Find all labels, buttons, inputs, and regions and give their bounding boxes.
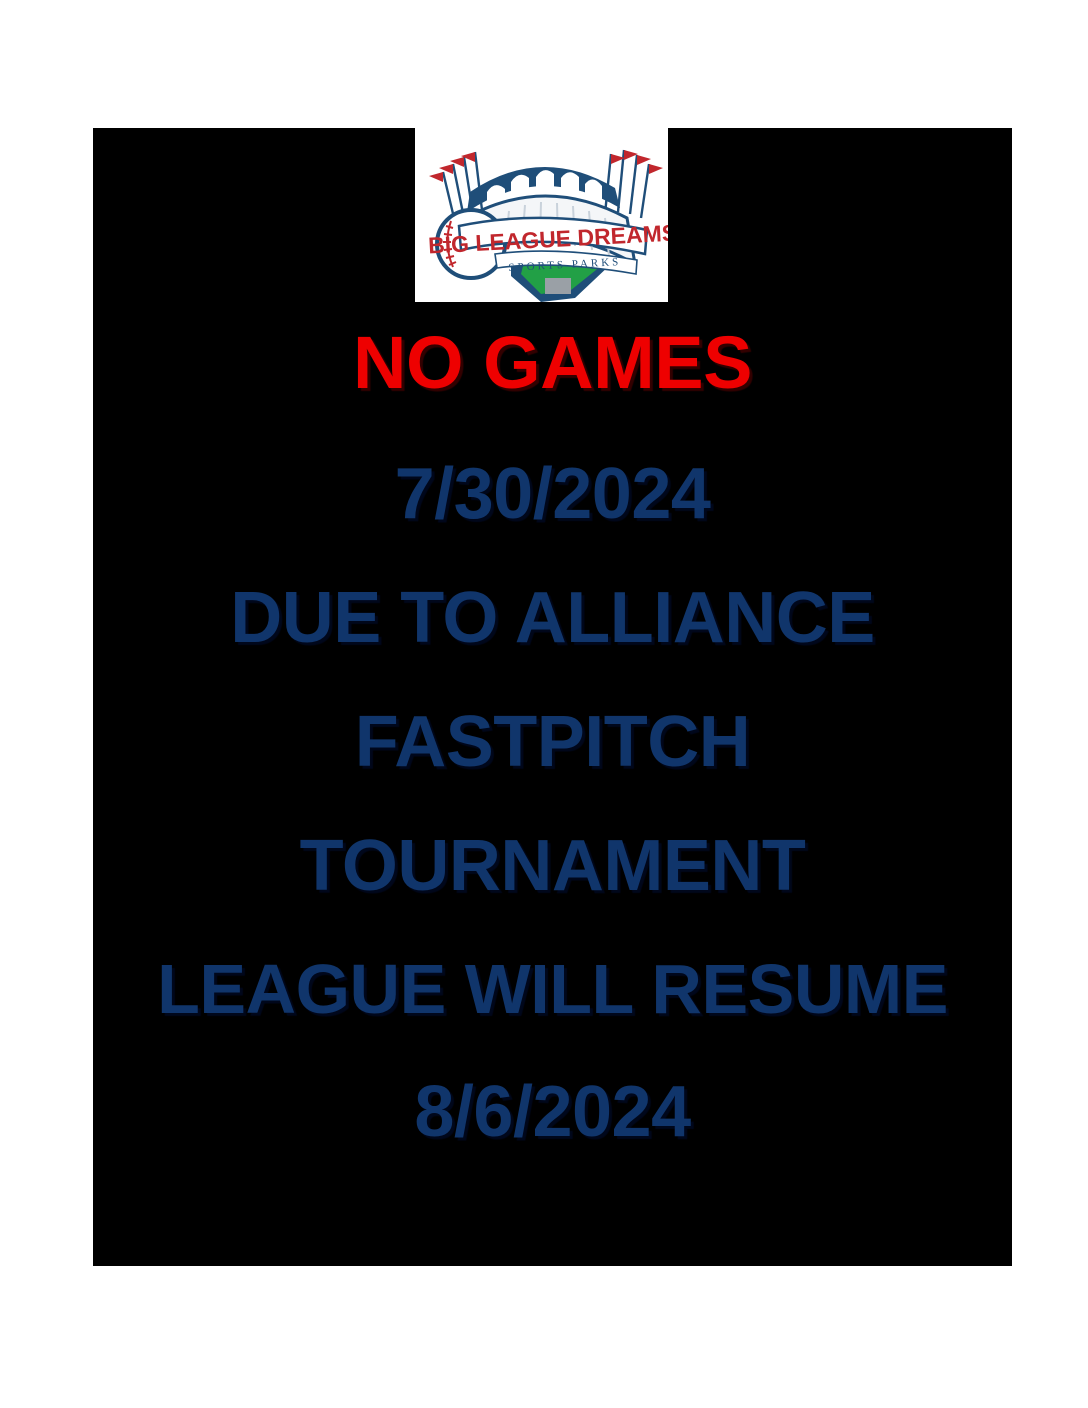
notice-headline: NO GAMES	[93, 326, 1012, 400]
flyer-page: BIG LEAGUE DREAMS SPORTS PARKS NO GAMES …	[0, 0, 1088, 1408]
notice-line-reason-1: DUE TO ALLIANCE	[93, 582, 1012, 654]
notice-line-reason-2: FASTPITCH	[93, 706, 1012, 778]
notice-line-resume-date: 8/6/2024	[93, 1076, 1012, 1148]
big-league-dreams-logo-icon: BIG LEAGUE DREAMS SPORTS PARKS	[415, 128, 668, 302]
notice-line-resume: LEAGUE WILL RESUME	[93, 954, 1012, 1024]
black-notice-panel: BIG LEAGUE DREAMS SPORTS PARKS NO GAMES …	[93, 128, 1012, 1266]
notice-line-reason-3: TOURNAMENT	[93, 830, 1012, 902]
logo-container: BIG LEAGUE DREAMS SPORTS PARKS	[415, 128, 668, 302]
notice-line-cancel-date: 7/30/2024	[93, 458, 1012, 530]
notice-text-stack: NO GAMES 7/30/2024 DUE TO ALLIANCE FASTP…	[93, 326, 1012, 1148]
